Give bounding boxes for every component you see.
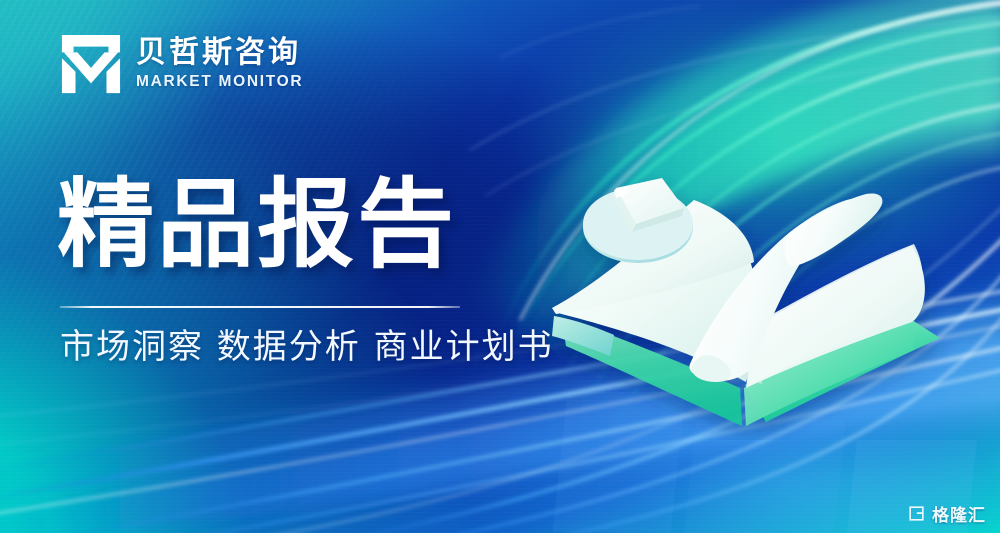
brand-name-en: MARKET MONITOR [136,73,303,91]
open-book-illustration [540,150,960,440]
title-divider [60,306,460,308]
brand-text: 贝哲斯咨询 MARKET MONITOR [136,37,303,92]
page-subtitle: 市场洞察 数据分析 商业计划书 [60,326,554,369]
gelonghui-g-icon [907,504,926,523]
report-cover-banner: 贝哲斯咨询 MARKET MONITOR 精品报告 市场洞察 数据分析 商业计划… [0,0,1000,533]
market-monitor-m-logo-icon [60,33,122,95]
watermark-text: 格隆汇 [932,501,986,526]
brand-logo: 贝哲斯咨询 MARKET MONITOR [60,33,303,95]
brand-name-cn: 贝哲斯咨询 [136,37,303,69]
watermark: 格隆汇 [907,501,986,526]
page-title: 精品报告 [57,176,457,275]
